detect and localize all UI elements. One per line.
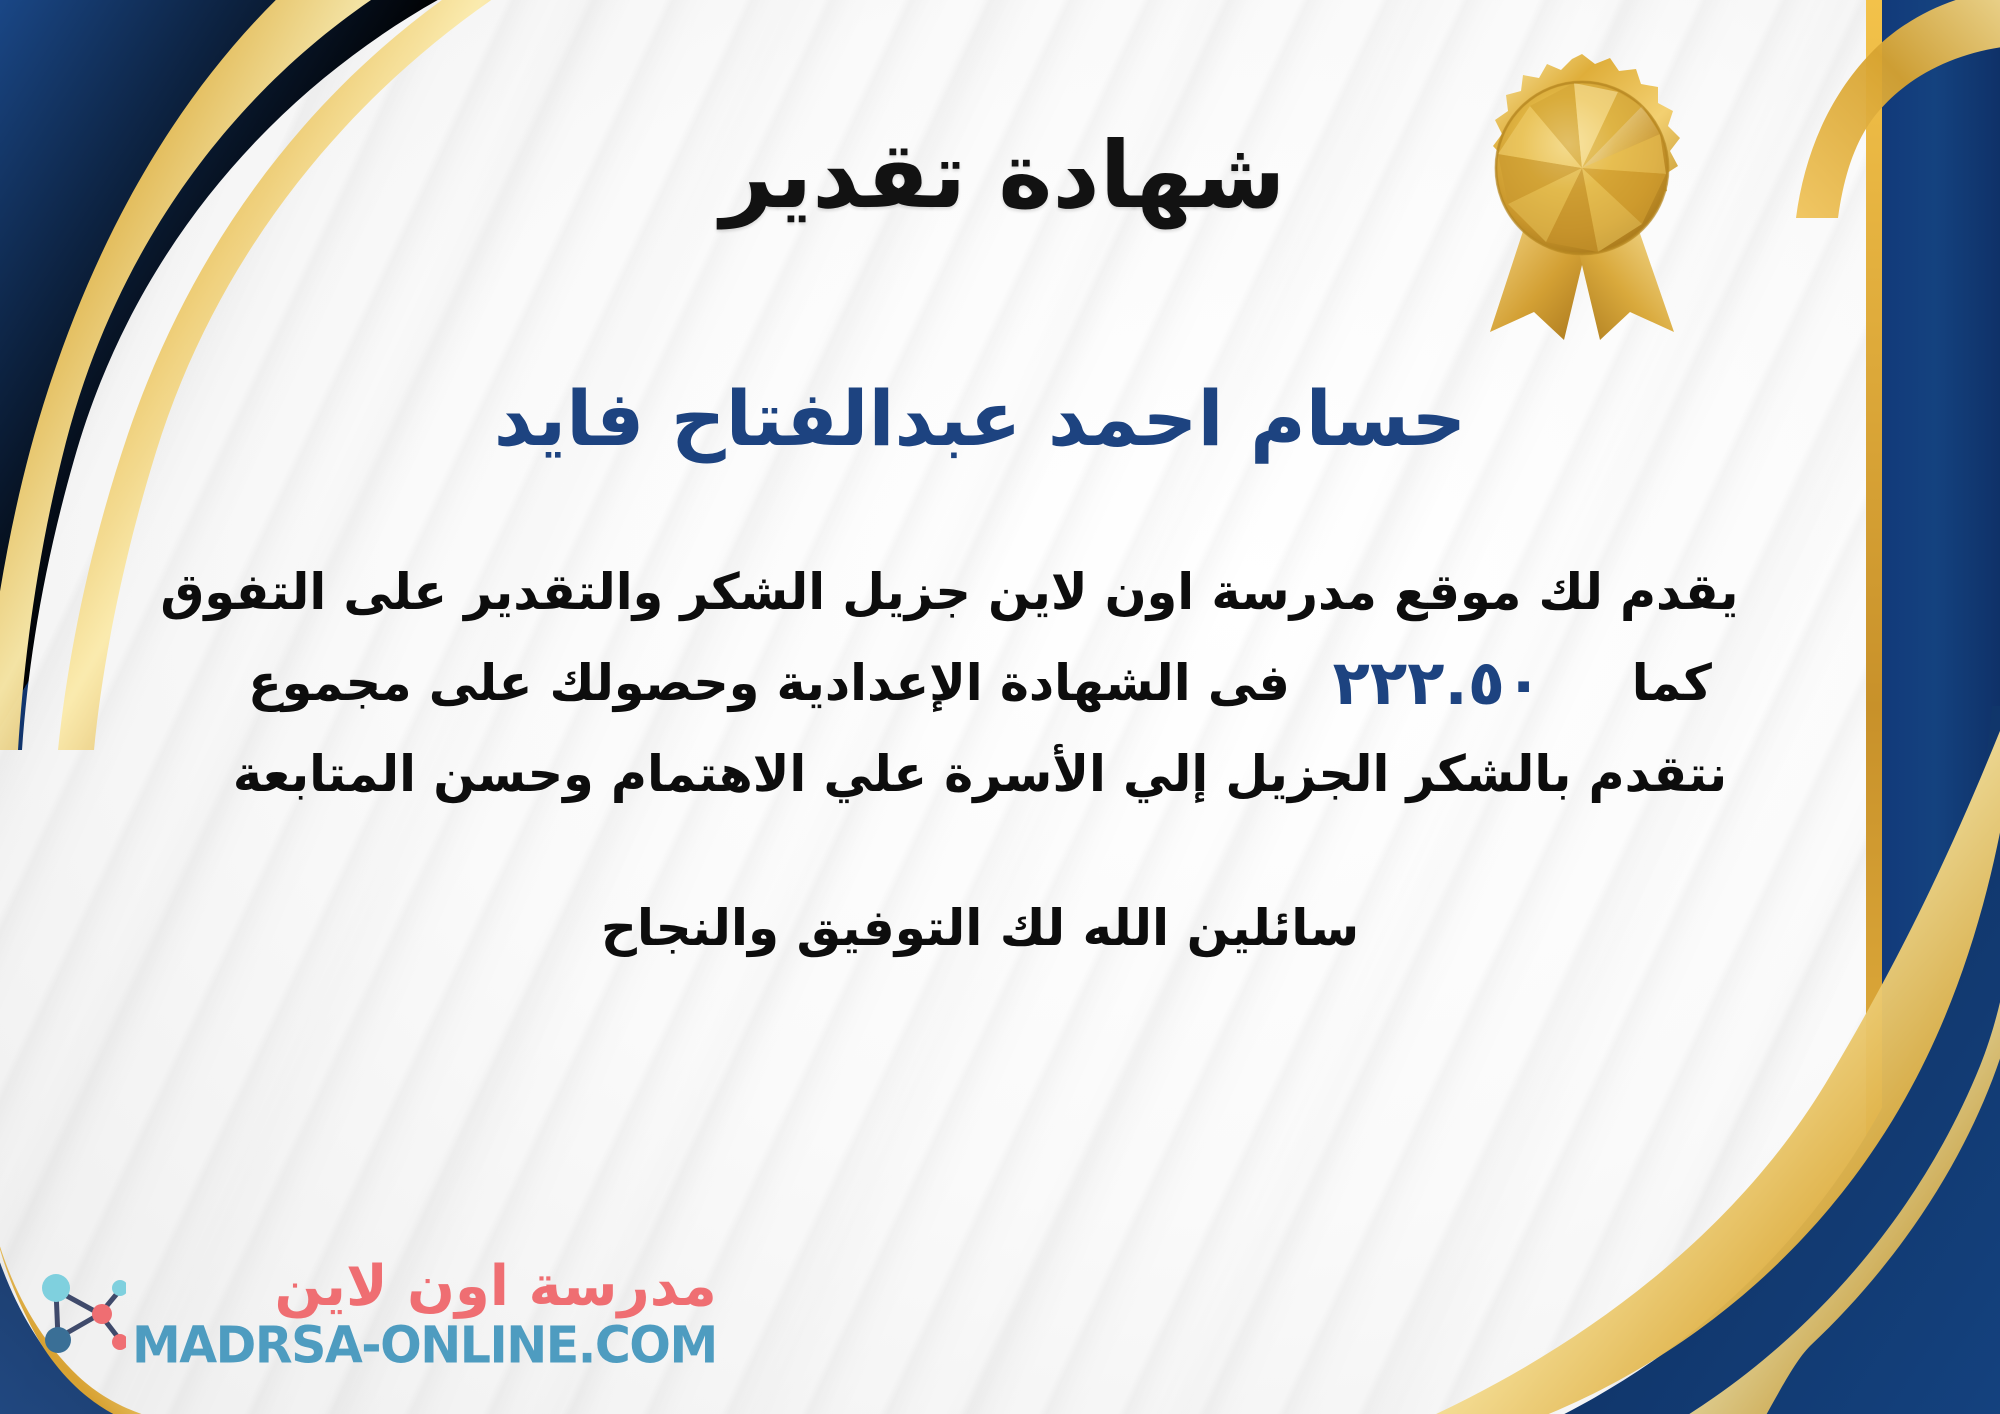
- body-line-2-suffix: كما: [1632, 654, 1712, 712]
- certificate-content: شهادة تقدير حسام احمد عبدالفتاح فايد يقد…: [150, 0, 1810, 1414]
- closing-line: سائلين الله لك التوفيق والنجاح: [601, 899, 1359, 957]
- certificate-body: يقدم لك موقع مدرسة اون لاين جزيل الشكر و…: [210, 552, 1750, 814]
- right-gold-band: [1866, 0, 1882, 1414]
- body-line-1: يقدم لك موقع مدرسة اون لاين جزيل الشكر و…: [222, 552, 1739, 633]
- network-nodes-icon: [34, 1260, 126, 1366]
- total-score-value: ٢٢٢.٥٠: [1307, 633, 1568, 733]
- logo-text-group: مدرسة اون لاين MADRSA-ONLINE.COM: [132, 1259, 717, 1370]
- certificate-canvas: شهادة تقدير حسام احمد عبدالفتاح فايد يقد…: [0, 0, 2000, 1414]
- body-line-2-prefix: فى الشهادة الإعدادية وحصولك على مجموع: [248, 654, 1290, 712]
- body-line-2: كما ٢٢٢.٥٠ فى الشهادة الإعدادية وحصولك ع…: [222, 633, 1739, 733]
- right-navy-band: [1882, 0, 2000, 1414]
- page-title: شهادة تقدير: [721, 128, 1286, 225]
- body-line-3: نتقدم بالشكر الجزيل إلي الأسرة علي الاهت…: [222, 734, 1739, 815]
- recipient-name: حسام احمد عبدالفتاح فايد: [494, 377, 1467, 461]
- logo-website-url: MADRSA-ONLINE.COM: [132, 1320, 717, 1371]
- site-logo[interactable]: مدرسة اون لاين MADRSA-ONLINE.COM: [34, 1259, 717, 1370]
- logo-arabic-name: مدرسة اون لاين: [275, 1259, 717, 1315]
